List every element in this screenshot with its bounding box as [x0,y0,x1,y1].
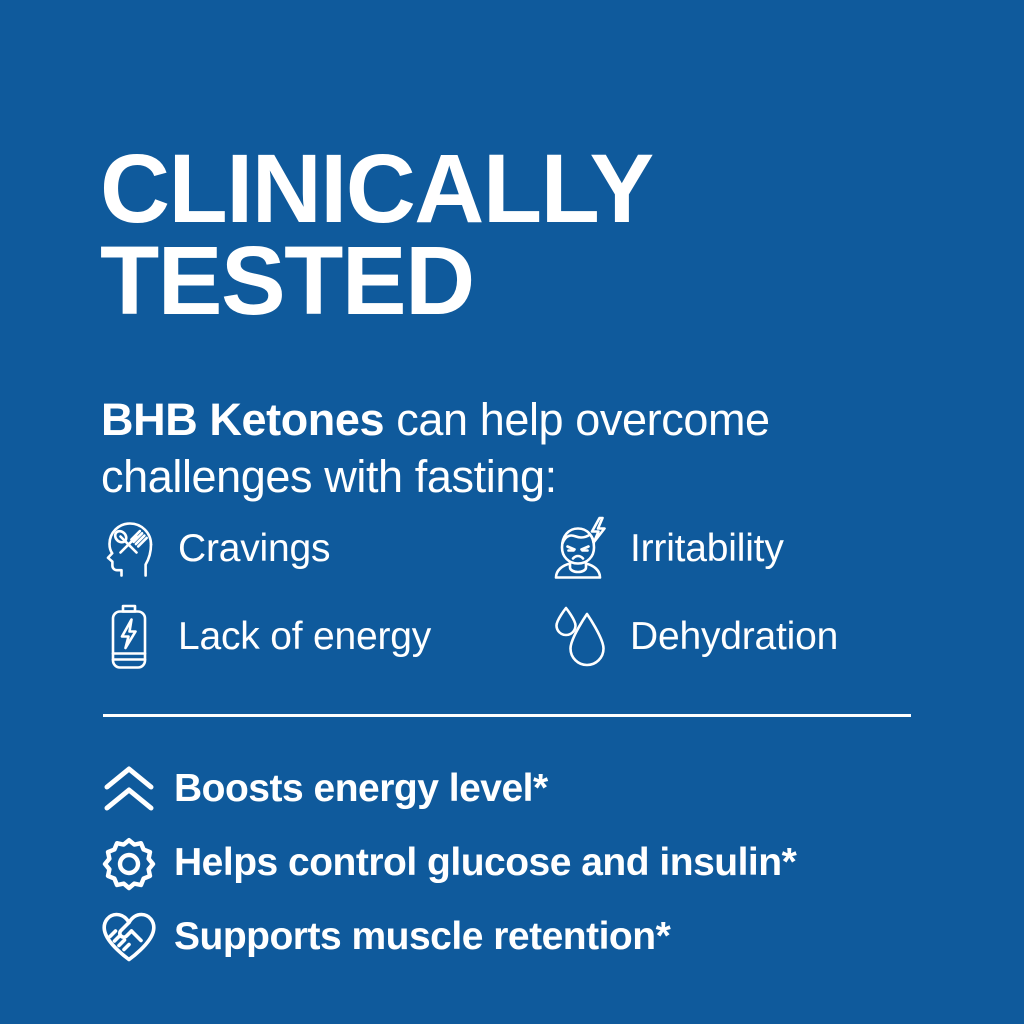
challenge-label: Dehydration [630,615,838,659]
challenge-label: Irritability [630,527,784,571]
challenge-label: Cravings [178,527,330,571]
benefit-label: Helps control glucose and insulin* [174,841,796,885]
benefit-label: Boosts energy level* [174,767,548,811]
headline-line-2: TESTED [100,235,960,327]
challenges-list: Cravings Irritability [98,505,938,681]
benefit-item-glucose-insulin: Helps control glucose and insulin* [100,826,980,900]
challenge-item-cravings: Cravings [98,514,550,584]
angry-face-lightning-icon [550,514,612,584]
section-divider [103,714,911,717]
benefit-item-muscle-retention: Supports muscle retention* [100,900,980,974]
heart-handshake-icon [100,908,158,966]
promo-poster: CLINICALLY TESTED BHB Ketones can help o… [0,0,1024,1024]
challenge-item-irritability: Irritability [550,514,938,584]
water-droplets-icon [550,602,612,672]
benefit-label: Supports muscle retention* [174,915,670,959]
challenge-item-dehydration: Dehydration [550,602,938,672]
head-cravings-icon [98,514,160,584]
challenge-item-lack-of-energy: Lack of energy [98,602,550,672]
gear-icon [100,834,158,892]
page-title: CLINICALLY TESTED [100,143,960,327]
challenge-label: Lack of energy [178,615,431,659]
headline-line-1: CLINICALLY [100,143,960,235]
double-chevron-up-icon [100,760,158,818]
benefit-item-boosts-energy: Boosts energy level* [100,752,980,826]
subheadline-lede: BHB Ketones [101,394,384,445]
benefits-list: Boosts energy level* Helps control gluco… [100,752,980,974]
subheadline: BHB Ketones can help overcome challenges… [101,391,981,505]
battery-low-energy-icon [98,602,160,672]
